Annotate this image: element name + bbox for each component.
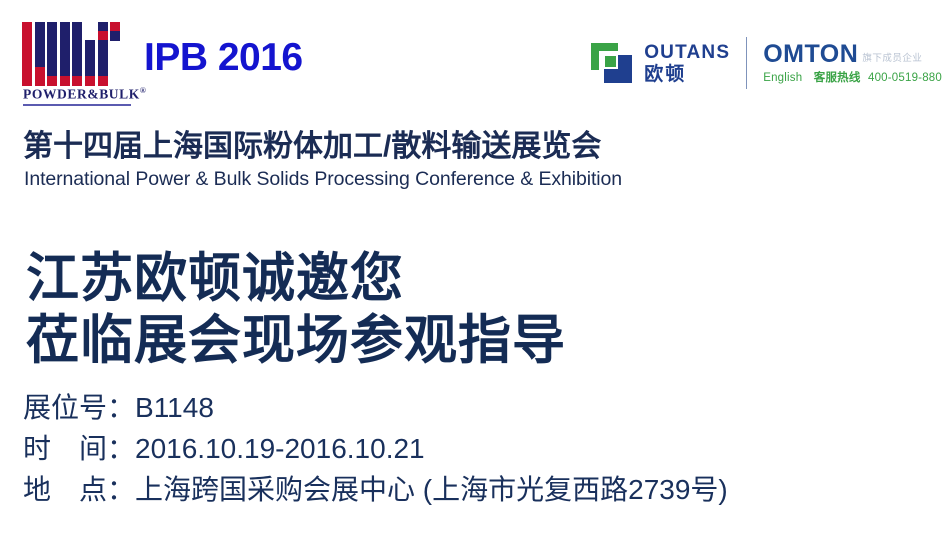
omton-name: OMTON — [763, 42, 858, 67]
ipb-wordmark: IPB 2016 — [144, 36, 303, 80]
pixel-cell — [47, 76, 57, 86]
detail-value-date: 2016.10.19-2016.10.21 — [135, 433, 425, 464]
omton-name-row: OMTON 旗下成员企业 — [763, 42, 942, 67]
headline-line-2: 莅临展会现场参观指导 — [26, 310, 566, 372]
powder-bulk-text: POWDER&BULK — [23, 87, 140, 102]
powder-bulk-pixel-grid-icon — [22, 22, 124, 86]
corporate-logos: OUTANS 欧顿 OMTON 旗下成员企业 English 客服热线 400-… — [591, 33, 942, 93]
detail-value-booth: B1148 — [135, 392, 214, 423]
detail-label-date: 时 间： — [23, 433, 135, 464]
powder-bulk-underline — [23, 104, 131, 106]
omton-hotline-number: 400-0519-880 — [868, 72, 942, 84]
omton-logo: OMTON 旗下成员企业 English 客服热线 400-0519-880 — [763, 42, 942, 85]
ipb-logo: POWDER&BULK® IPB 2016 — [22, 22, 282, 114]
pixel-cell — [60, 76, 70, 86]
detail-row-booth: 展位号：B1148 — [23, 387, 728, 428]
outans-name-cn: 欧顿 — [644, 65, 730, 84]
outans-name-en: OUTANS — [644, 43, 730, 62]
detail-label-booth: 展位号： — [23, 392, 135, 423]
detail-row-date: 时 间：2016.10.19-2016.10.21 — [23, 428, 728, 469]
powder-bulk-wordmark: POWDER&BULK® — [23, 86, 146, 103]
pixel-cell — [98, 76, 108, 86]
banner-header: POWDER&BULK® IPB 2016 OUTANS 欧顿 — [0, 0, 950, 118]
omton-hotline-label: 客服热线 — [814, 72, 861, 84]
detail-row-venue: 地 点：上海跨国采购会展中心 (上海市光复西路2739号) — [23, 469, 728, 510]
omton-language-label[interactable]: English — [763, 72, 802, 84]
pixel-cell — [85, 76, 95, 86]
outans-green-dot — [605, 56, 616, 67]
omton-affiliation: 旗下成员企业 — [862, 54, 922, 67]
pixel-cell — [35, 76, 45, 86]
logo-divider — [746, 37, 747, 89]
detail-value-venue: 上海跨国采购会展中心 (上海市光复西路2739号) — [135, 474, 728, 505]
detail-label-venue: 地 点： — [23, 474, 135, 505]
pixel-cell — [22, 76, 32, 86]
pixel-cell — [110, 31, 120, 41]
outans-wordmark: OUTANS 欧顿 — [644, 43, 730, 84]
show-title-cn: 第十四届上海国际粉体加工/散料输送展览会 — [23, 121, 601, 165]
pixel-cell — [72, 76, 82, 86]
event-details: 展位号：B1148 时 间：2016.10.19-2016.10.21 地 点：… — [23, 387, 728, 510]
invitation-banner: POWDER&BULK® IPB 2016 OUTANS 欧顿 — [0, 0, 950, 560]
omton-hotline-row: English 客服热线 400-0519-880 — [763, 73, 942, 85]
outans-logo: OUTANS 欧顿 — [591, 39, 746, 87]
headline-line-1: 江苏欧顿诚邀您 — [26, 248, 566, 310]
outans-square-mark-icon — [591, 43, 637, 83]
show-title-en: International Power & Bulk Solids Proces… — [24, 168, 622, 191]
registered-mark-icon: ® — [140, 86, 147, 95]
invitation-headline: 江苏欧顿诚邀您 莅临展会现场参观指导 — [26, 248, 566, 372]
